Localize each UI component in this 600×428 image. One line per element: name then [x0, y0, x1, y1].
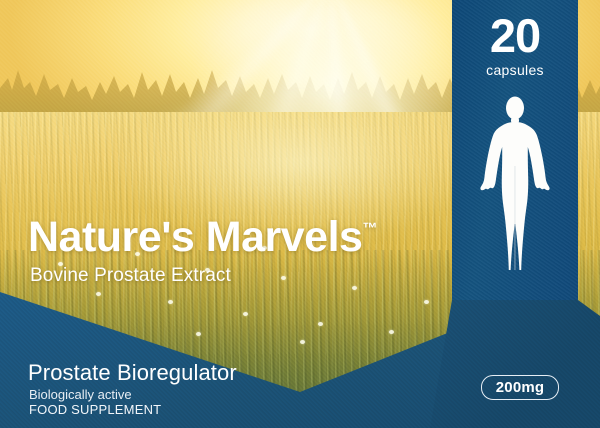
brand-name: Nature's Marvels™ [28, 216, 377, 259]
product-descriptor: Bovine Prostate Extract [30, 265, 231, 287]
trademark-icon: ™ [362, 220, 377, 237]
product-package-front: 20 capsules Nature's Marvels™ Bovine Pro… [0, 0, 600, 428]
brand-name-text: Nature's Marvels [28, 213, 362, 261]
claim-subtitle-biologically-active: Biologically active [29, 387, 132, 402]
claim-subtitle-food-supplement: FOOD SUPPLEMENT [29, 402, 161, 417]
human-body-silhouette-icon [480, 96, 550, 274]
capsule-count-panel: 20 capsules [452, 0, 578, 300]
capsule-count-unit: capsules [452, 62, 578, 78]
capsule-count-value: 20 [452, 12, 578, 59]
dosage-badge: 200mg [481, 375, 559, 400]
claim-title: Prostate Bioregulator [28, 360, 237, 386]
